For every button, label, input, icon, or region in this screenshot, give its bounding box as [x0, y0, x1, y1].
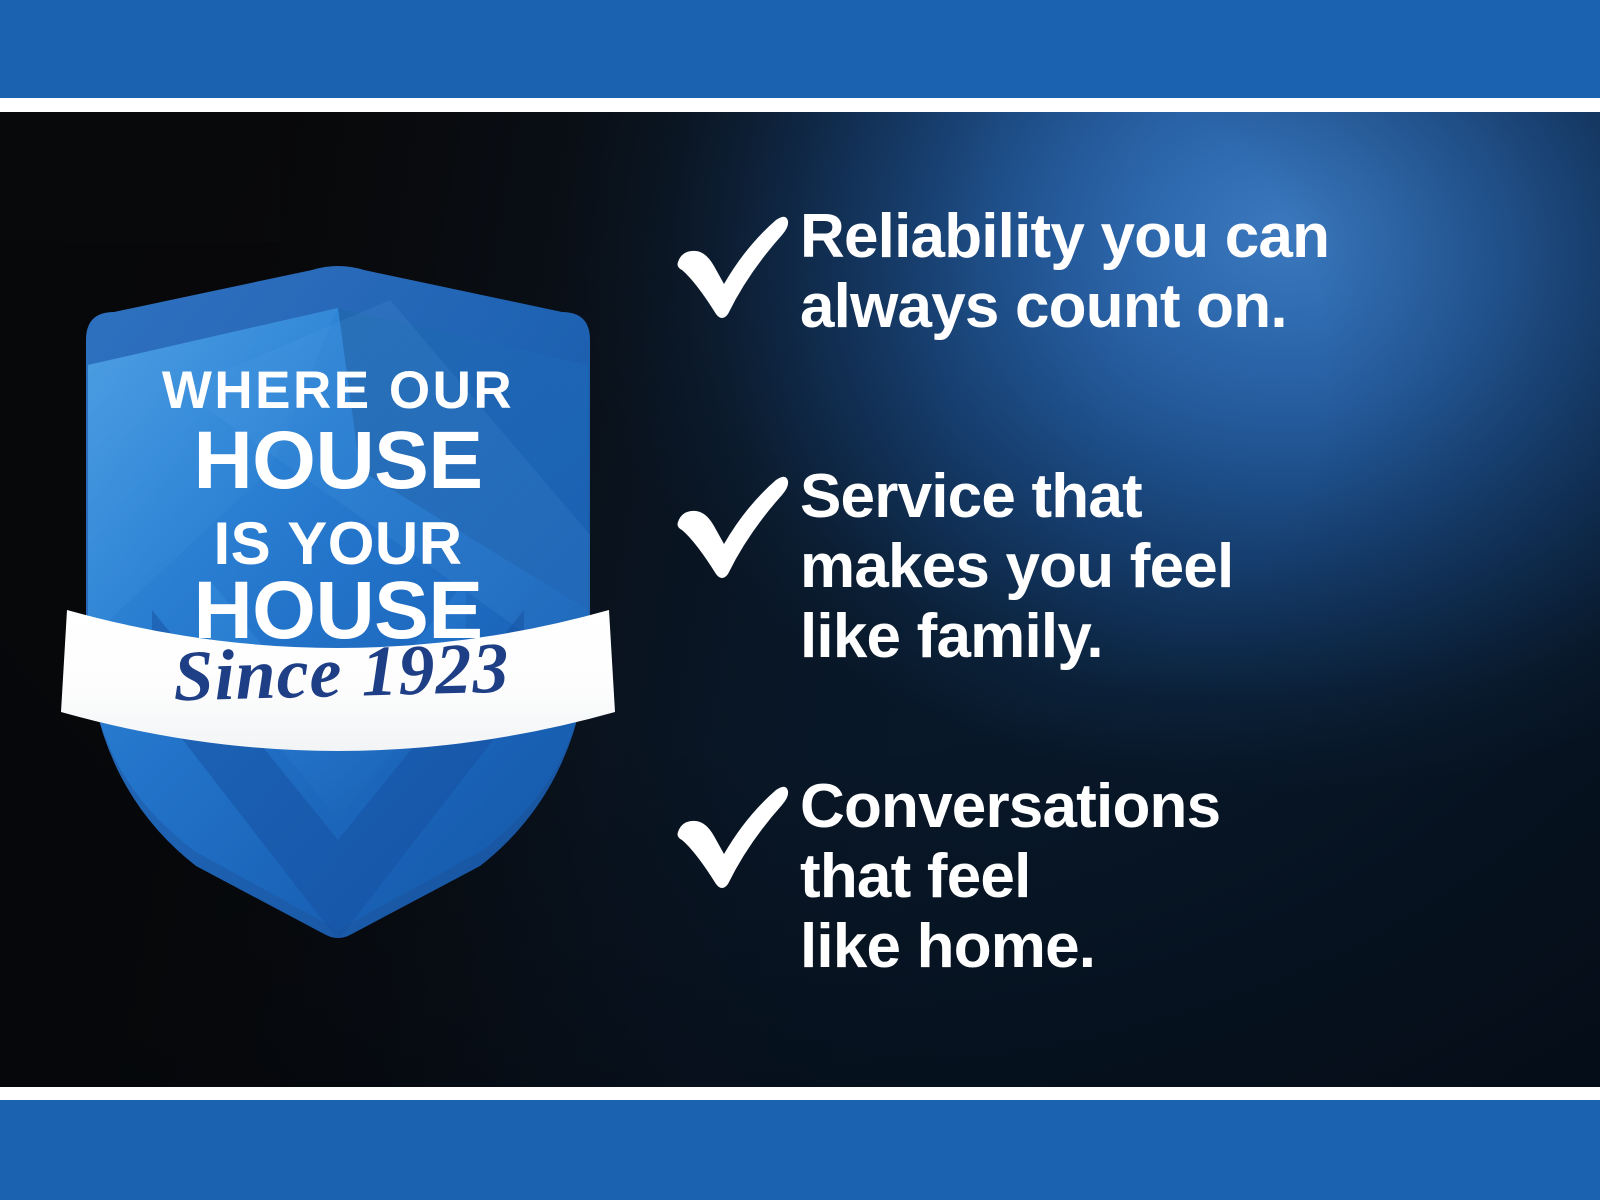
list-item: Reliability you can always count on. — [672, 202, 1552, 342]
checkmark-icon — [672, 462, 800, 580]
list-item: Conversations that feel like home. — [672, 772, 1552, 982]
benefit-text: Conversations that feel like home. — [800, 772, 1552, 982]
checkmark-icon — [672, 202, 800, 320]
shield-line-2: HOUSE — [193, 415, 482, 506]
promo-graphic: WHERE OUR HOUSE IS YOUR HOUSE Since 1923… — [0, 0, 1600, 1200]
since-banner: Since 1923 — [61, 610, 615, 751]
list-item: Service that makes you feel like family. — [672, 462, 1552, 672]
shield-line-1: WHERE OUR — [162, 361, 514, 420]
benefits-list: Reliability you can always count on. Ser… — [672, 180, 1552, 1020]
shield-logo: WHERE OUR HOUSE IS YOUR HOUSE Since 1923 — [60, 140, 630, 970]
banner-script-text: Since 1923 — [172, 628, 510, 717]
top-brand-bar — [0, 0, 1600, 98]
benefit-text: Reliability you can always count on. — [800, 202, 1552, 342]
bottom-brand-bar — [0, 1100, 1600, 1200]
checkmark-icon — [672, 772, 800, 890]
benefit-text: Service that makes you feel like family. — [800, 462, 1552, 672]
